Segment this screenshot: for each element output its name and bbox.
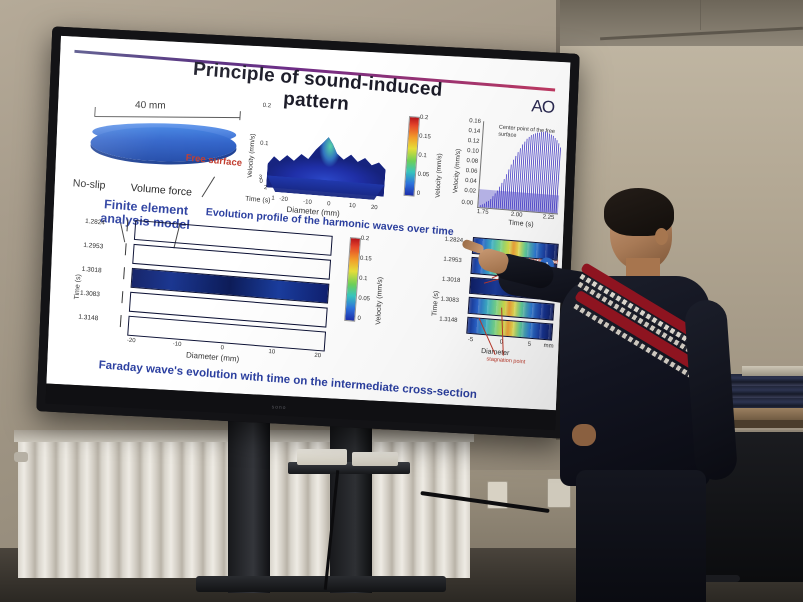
radiator-valve-knob[interactable] xyxy=(14,452,28,462)
display-screen[interactable]: Principle of sound-induced pattern AO 40… xyxy=(46,36,570,410)
no-slip-label: No-slip xyxy=(72,177,105,191)
spike-xtick-0: 1.75 xyxy=(477,209,489,216)
tv-stand-base xyxy=(196,576,446,592)
presenter-legs xyxy=(576,470,706,602)
shelf-box xyxy=(297,449,347,465)
tv-stand-column-right xyxy=(330,418,372,593)
surface-xtick-3: 10 xyxy=(349,203,356,210)
surface-plot: Velocity (mm/s) 0.2 0.1 0 Time (s) 1 2 3… xyxy=(242,100,401,224)
spike-series xyxy=(478,121,564,213)
presentation-slide: Principle of sound-induced pattern AO 40… xyxy=(46,36,570,410)
strip-time-label: 1.3083 xyxy=(80,290,100,299)
zoom-time-label: 1.3018 xyxy=(442,277,461,284)
zoom-xtick-0: -5 xyxy=(468,337,474,343)
surface-ytick-max: 0.2 xyxy=(263,103,272,110)
surface-plot-ylabel: Velocity (mm/s) xyxy=(247,133,257,178)
zoom-xtick-2: 5 xyxy=(527,342,531,348)
wall-display[interactable]: Principle of sound-induced pattern AO 40… xyxy=(36,26,579,438)
dimension-tick-left xyxy=(94,107,96,116)
zoom-time-label: 1.3148 xyxy=(439,316,458,323)
spike-ytick-8: 0.16 xyxy=(469,118,481,125)
display-brand-logo: sono xyxy=(272,404,287,411)
surface-zlabel: Time (s) xyxy=(245,196,271,205)
zoom-ylabel: Time (s) xyxy=(431,290,440,316)
surface-xtick-1: -10 xyxy=(303,199,312,206)
tv-stand-column-left xyxy=(228,418,270,593)
zoom-time-label: 1.2824 xyxy=(445,237,464,244)
spike-ytick-7: 0.14 xyxy=(468,128,480,135)
spike-xtick-2: 2.25 xyxy=(542,214,554,221)
strip-tick xyxy=(123,267,125,279)
zoom-time-label: 1.3083 xyxy=(440,297,459,304)
spike-xtick-1: 2.00 xyxy=(511,212,523,219)
faraday-cb-tick-0: 0 xyxy=(357,316,361,322)
spike-ytick-6: 0.12 xyxy=(468,138,480,145)
zoom-xtick-3: mm xyxy=(543,343,553,350)
surface-ztick-1: 1 xyxy=(271,196,275,202)
surface-xtick-4: 20 xyxy=(371,205,378,212)
strip-tick xyxy=(125,243,127,255)
strip-time-label: 1.3018 xyxy=(81,266,101,275)
spike-ytick-4: 0.08 xyxy=(466,158,478,165)
ceiling-tile xyxy=(700,0,803,30)
strips-xlabel: Diameter (mm) xyxy=(186,350,240,363)
strip-tick xyxy=(120,315,122,327)
surface-cb-tick-2: 0.1 xyxy=(418,153,427,160)
surface-ytick-mid: 0.1 xyxy=(260,141,269,148)
strip-tick xyxy=(126,219,128,231)
strips-xtick-0: -20 xyxy=(127,338,136,345)
spike-ytick-0: 0.00 xyxy=(461,200,473,207)
spike-plot-area xyxy=(477,121,564,214)
shelf-box xyxy=(352,452,398,466)
dimension-line xyxy=(94,116,240,118)
faraday-cb-tick-2: 0.1 xyxy=(359,276,368,283)
leader-line-free-surface xyxy=(202,176,215,197)
surface-ztick-3: 3 xyxy=(258,175,262,181)
faraday-cb-tick-4: 0.2 xyxy=(361,236,370,243)
surface-xtick-2: 0 xyxy=(327,201,331,207)
faraday-cb-label: Velocity (mm/s) xyxy=(375,277,384,325)
strip-time-label: 1.3148 xyxy=(78,314,98,323)
dimension-label: 40 mm xyxy=(135,100,166,112)
spike-ytick-5: 0.10 xyxy=(467,148,479,155)
spike-xlabel: Time (s) xyxy=(508,220,534,229)
surface-ztick-2: 2 xyxy=(264,185,268,191)
strips-xtick-3: 10 xyxy=(268,349,275,356)
spike-ytick-1: 0.02 xyxy=(464,188,476,195)
surface-cb-tick-1: 0.05 xyxy=(417,172,429,179)
volume-force-label: Volume force xyxy=(130,182,192,199)
center-point-plot: Velocity (mm/s) Center point of the free… xyxy=(450,113,569,234)
ao-logo: AO xyxy=(531,96,555,118)
surface-xtick-0: -20 xyxy=(279,196,288,203)
faraday-strips-panel: Time (s) 1.2824 1.2953 1.3018 1.3083 1.3… xyxy=(68,213,337,373)
surface-cb-tick-3: 0.15 xyxy=(419,134,431,141)
strip-time-label: 1.2824 xyxy=(85,218,105,227)
strips-xtick-4: 20 xyxy=(314,353,321,360)
surface-cb-tick-4: 0.2 xyxy=(420,115,429,122)
strips-xtick-1: -10 xyxy=(173,341,182,348)
presenter-ear xyxy=(655,228,668,245)
free-surface-label: Free surface xyxy=(185,153,242,169)
strip-tick xyxy=(121,291,123,303)
zoom-time-label: 1.2953 xyxy=(443,257,462,264)
surface-cb-tick-0: 0 xyxy=(417,191,421,197)
dimension-tick-right xyxy=(239,111,241,120)
fem-model-diagram: 40 mm Free surface xyxy=(80,97,245,187)
strip-time-label: 1.2953 xyxy=(83,242,103,251)
spike-ytick-3: 0.06 xyxy=(465,168,477,175)
spike-ytick-2: 0.04 xyxy=(465,178,477,185)
strips-xtick-2: 0 xyxy=(220,345,224,351)
faraday-cb-tick-3: 0.15 xyxy=(360,256,372,263)
spike-ylabel: Velocity (mm/s) xyxy=(452,149,462,194)
stagnation-annotation: stagnation point xyxy=(486,356,526,366)
surface-cb-label: Velocity (mm/s) xyxy=(435,153,444,198)
presenter-hand-lower xyxy=(572,424,596,446)
book xyxy=(742,366,803,376)
faraday-cb-tick-1: 0.05 xyxy=(358,296,370,303)
screenshot-root: Principle of sound-induced pattern AO 40… xyxy=(0,0,803,602)
